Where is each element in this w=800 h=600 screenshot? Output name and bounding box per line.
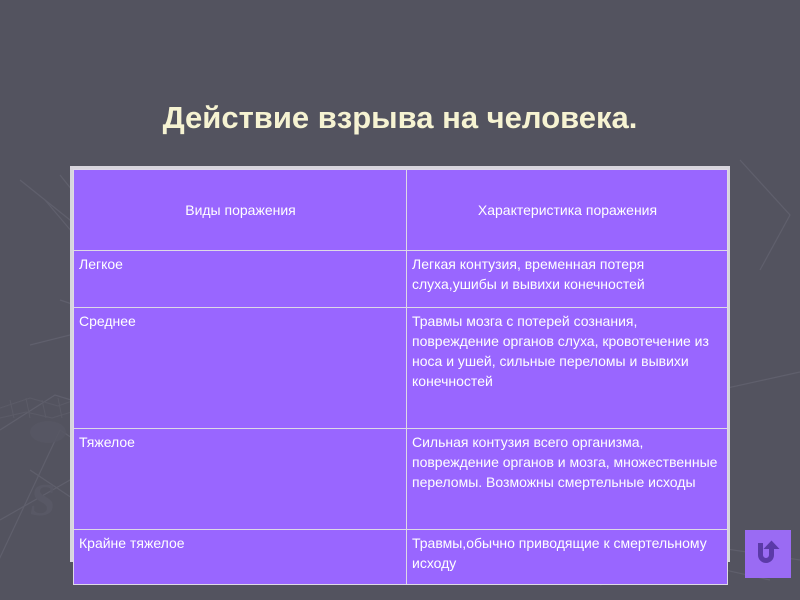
cell-kind: Среднее (74, 308, 407, 429)
cell-characteristic: Травмы мозга с потерей сознания, поврежд… (407, 308, 728, 429)
table-row: Крайне тяжелое Травмы,обычно приводящие … (74, 530, 728, 585)
table-body: Легкое Легкая контузия, временная потеря… (74, 251, 728, 585)
return-button[interactable] (745, 530, 791, 578)
table-header-row: Виды поражения Характеристика поражения (74, 170, 728, 251)
u-turn-return-icon (752, 538, 784, 570)
table-row: Тяжелое Сильная контузия всего организма… (74, 429, 728, 530)
cell-characteristic: Сильная контузия всего организма, повреж… (407, 429, 728, 530)
damage-table: Виды поражения Характеристика поражения … (73, 169, 728, 585)
cell-kind: Тяжелое (74, 429, 407, 530)
cell-characteristic: Травмы,обычно приводящие к смертельному … (407, 530, 728, 585)
cell-kind: Легкое (74, 251, 407, 308)
cell-characteristic: Легкая контузия, временная потеря слуха,… (407, 251, 728, 308)
cell-kind: Крайне тяжелое (74, 530, 407, 585)
table-row: Легкое Легкая контузия, временная потеря… (74, 251, 728, 308)
table-row: Среднее Травмы мозга с потерей сознания,… (74, 308, 728, 429)
column-header-characteristic: Характеристика поражения (407, 170, 728, 251)
page-title: Действие взрыва на человека. (0, 100, 800, 136)
damage-table-container: Виды поражения Характеристика поражения … (70, 166, 730, 562)
column-header-kind: Виды поражения (74, 170, 407, 251)
presentation-slide: S Действие взрыва на человека. Виды пора… (0, 0, 800, 600)
table-header: Виды поражения Характеристика поражения (74, 170, 728, 251)
svg-text:S: S (30, 474, 56, 525)
